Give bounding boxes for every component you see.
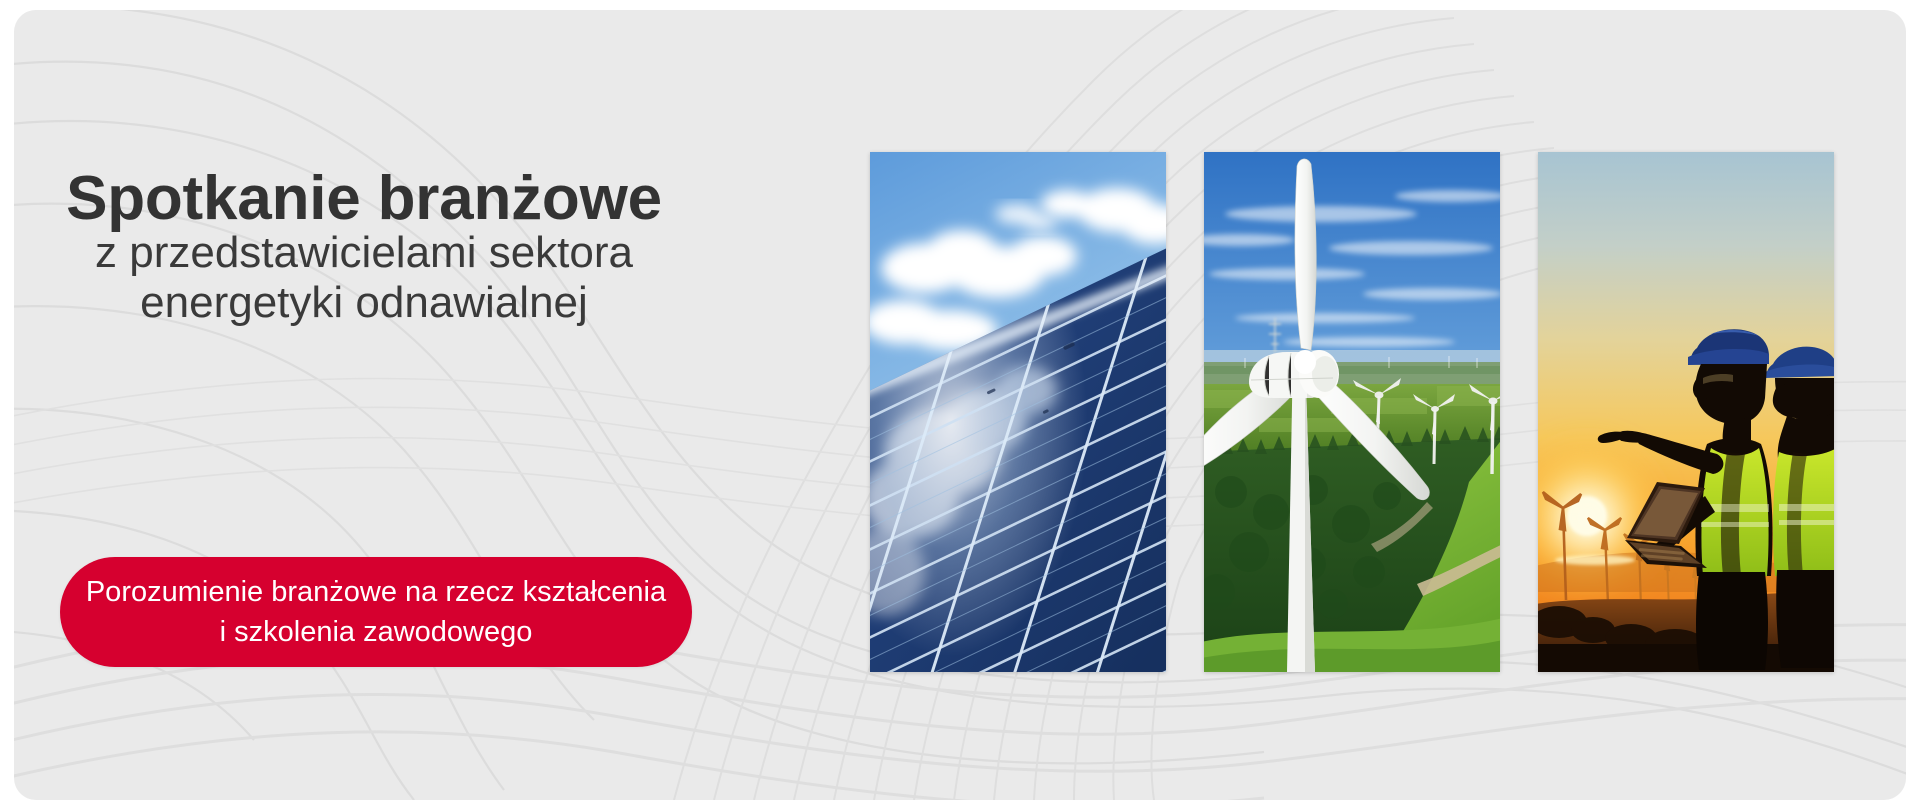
badge-line-1: Porozumienie branżowe na rzecz kształcen… (86, 572, 666, 612)
text-column: Spotkanie branżowe z przedstawicielami s… (14, 10, 874, 800)
subtitle-line-1: z przedstawicielami sektora (14, 228, 714, 277)
wind-turbine-photo (1204, 152, 1500, 672)
photo-strip (870, 152, 1872, 672)
partnership-badge[interactable]: Porozumienie branżowe na rzecz kształcen… (60, 557, 692, 667)
solar-panels-photo (870, 152, 1166, 672)
engineers-sunset-photo (1538, 152, 1834, 672)
badge-line-2: i szkolenia zawodowego (220, 612, 533, 652)
subtitle-line-2: energetyki odnawialnej (14, 278, 714, 327)
page-title: Spotkanie branżowe (14, 168, 714, 230)
banner-root: Spotkanie branżowe z przedstawicielami s… (0, 0, 1920, 810)
banner-card: Spotkanie branżowe z przedstawicielami s… (14, 10, 1906, 800)
